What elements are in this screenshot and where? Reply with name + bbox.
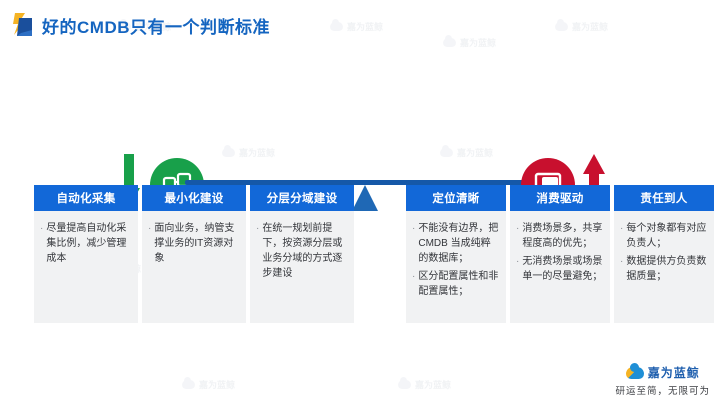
balance-diagram: 成本 收益 — [0, 70, 720, 170]
page-title: 好的CMDB只有一个判断标准 — [42, 13, 270, 38]
list-item-text: 在统一规划前提下，按资源分层或业务分域的方式逐步建设 — [262, 221, 347, 281]
list-item: ·数据提供方负责数据质量； — [620, 254, 707, 284]
criteria-column: 责任到人·每个对象都有对应负责人；·数据提供方负责数据质量； — [614, 185, 714, 323]
criteria-column: 定位清晰·不能没有边界，把 CMDB 当成纯粹的数据库；·区分配置属性和非配置属… — [406, 185, 506, 323]
right-criteria-panel: 定位清晰·不能没有边界，把 CMDB 当成纯粹的数据库；·区分配置属性和非配置属… — [406, 185, 714, 323]
watermark-cloud-icon — [398, 380, 411, 389]
criteria-column-header[interactable]: 分层分域建设 — [250, 185, 354, 211]
list-item: ·不能没有边界，把 CMDB 当成纯粹的数据库； — [412, 221, 499, 266]
bullet-dot-icon: · — [256, 221, 259, 281]
list-item: ·无消费场景或场景单一的尽量避免； — [516, 254, 603, 284]
bullet-dot-icon: · — [620, 254, 623, 284]
list-item: ·在统一规划前提下，按资源分层或业务分域的方式逐步建设 — [256, 221, 347, 281]
bullet-dot-icon: · — [40, 221, 43, 266]
criteria-column: 消费驱动·消费场景多，共享程度高的优先；·无消费场景或场景单一的尽量避免； — [510, 185, 610, 323]
watermark: 嘉为蓝鲸 — [182, 378, 235, 391]
criteria-column-header[interactable]: 责任到人 — [614, 185, 714, 211]
criteria-column: 最小化建设·面向业务，纳管支撑业务的IT资源对象 — [142, 185, 246, 323]
bullet-dot-icon: · — [620, 221, 623, 251]
bullet-dot-icon: · — [516, 254, 519, 284]
footer-tagline: 研运至简，无限可为 — [615, 383, 710, 397]
criteria-column-body: ·不能没有边界，把 CMDB 当成纯粹的数据库；·区分配置属性和非配置属性； — [406, 211, 506, 323]
criteria-column: 分层分域建设·在统一规划前提下，按资源分层或业务分域的方式逐步建设 — [250, 185, 354, 323]
list-item: ·尽量提高自动化采集比例，减少管理成本 — [40, 221, 131, 266]
list-item-text: 无消费场景或场景单一的尽量避免； — [522, 254, 603, 284]
watermark-text: 嘉为蓝鲸 — [199, 378, 235, 391]
list-item: ·每个对象都有对应负责人； — [620, 221, 707, 251]
footer-brand-name: 嘉为蓝鲸 — [648, 364, 700, 381]
criteria-column: 自动化采集·尽量提高自动化采集比例，减少管理成本 — [34, 185, 138, 323]
list-item: ·面向业务，纳管支撑业务的IT资源对象 — [148, 221, 239, 266]
criteria-column-body: ·在统一规划前提下，按资源分层或业务分域的方式逐步建设 — [250, 211, 354, 323]
criteria-column-body: ·每个对象都有对应负责人；·数据提供方负责数据质量； — [614, 211, 714, 323]
bullet-dot-icon: · — [516, 221, 519, 251]
left-criteria-panel: 自动化采集·尽量提高自动化采集比例，减少管理成本最小化建设·面向业务，纳管支撑业… — [34, 185, 354, 323]
list-item-text: 不能没有边界，把 CMDB 当成纯粹的数据库； — [418, 221, 499, 266]
footer-brand-block: 嘉为蓝鲸 研运至简，无限可为 — [615, 364, 710, 397]
slide-header: 好的CMDB只有一个判断标准 — [0, 0, 720, 42]
watermark: 嘉为蓝鲸 — [398, 378, 451, 391]
bullet-dot-icon: · — [412, 221, 415, 266]
list-item: ·区分配置属性和非配置属性； — [412, 269, 499, 299]
list-item-text: 数据提供方负责数据质量； — [626, 254, 707, 284]
criteria-column-body: ·面向业务，纳管支撑业务的IT资源对象 — [142, 211, 246, 323]
triangle-fulcrum-icon — [352, 185, 378, 211]
cloud-logo-icon — [626, 367, 644, 379]
watermark-text: 嘉为蓝鲸 — [415, 378, 451, 391]
slide-root: 嘉为蓝鲸嘉为蓝鲸嘉为蓝鲸嘉为蓝鲸嘉为蓝鲸嘉为蓝鲸嘉为蓝鲸嘉为蓝鲸嘉为蓝鲸嘉为蓝鲸… — [0, 0, 720, 405]
criteria-column-body: ·尽量提高自动化采集比例，减少管理成本 — [34, 211, 138, 323]
list-item: ·消费场景多，共享程度高的优先； — [516, 221, 603, 251]
criteria-column-header[interactable]: 消费驱动 — [510, 185, 610, 211]
criteria-column-header[interactable]: 自动化采集 — [34, 185, 138, 211]
list-item-text: 面向业务，纳管支撑业务的IT资源对象 — [154, 221, 239, 266]
list-item-text: 每个对象都有对应负责人； — [626, 221, 707, 251]
bullet-dot-icon: · — [412, 269, 415, 299]
list-item-text: 尽量提高自动化采集比例，减少管理成本 — [46, 221, 131, 266]
canway-logo-icon — [12, 12, 34, 38]
list-item-text: 区分配置属性和非配置属性； — [418, 269, 499, 299]
watermark-cloud-icon — [182, 380, 195, 389]
criteria-column-body: ·消费场景多，共享程度高的优先；·无消费场景或场景单一的尽量避免； — [510, 211, 610, 323]
bullet-dot-icon: · — [148, 221, 151, 266]
criteria-column-header[interactable]: 最小化建设 — [142, 185, 246, 211]
list-item-text: 消费场景多，共享程度高的优先； — [522, 221, 603, 251]
criteria-column-header[interactable]: 定位清晰 — [406, 185, 506, 211]
